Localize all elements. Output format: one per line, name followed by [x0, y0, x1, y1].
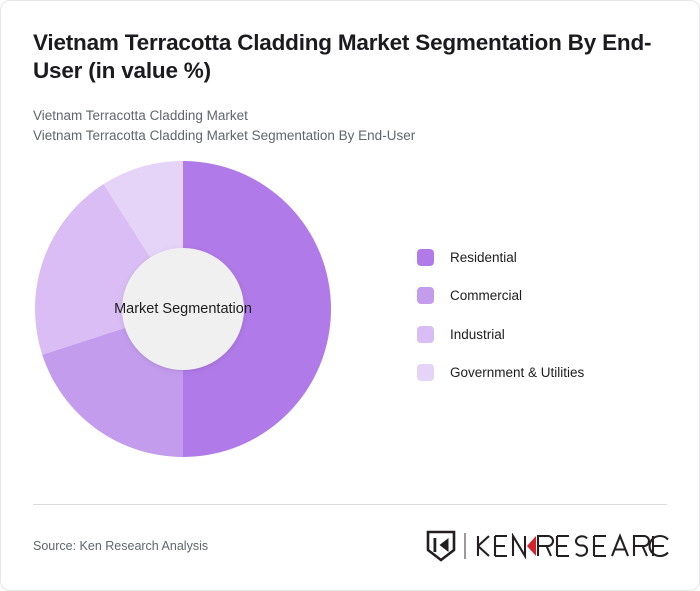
chart-footer: Source: Ken Research Analysis [33, 523, 671, 569]
subtitle-segmentation: Vietnam Terracotta Cladding Market Segme… [33, 126, 667, 146]
legend-swatch [417, 287, 434, 304]
legend-swatch [417, 326, 434, 343]
legend-item[interactable]: Government & Utilities [417, 354, 677, 393]
page-title: Vietnam Terracotta Cladding Market Segme… [33, 29, 667, 86]
donut-svg [33, 159, 333, 459]
legend-label: Residential [450, 250, 517, 265]
chart-body: Market Segmentation ResidentialCommercia… [1, 146, 699, 482]
legend-item[interactable]: Residential [417, 238, 677, 277]
footer-divider [33, 504, 667, 505]
donut-chart: Market Segmentation [33, 159, 333, 459]
legend-swatch [417, 364, 434, 381]
ken-research-wordmark [475, 533, 671, 559]
subtitle-group: Vietnam Terracotta Cladding Market Vietn… [33, 106, 667, 147]
legend-item[interactable]: Industrial [417, 315, 677, 354]
chart-legend: ResidentialCommercialIndustrialGovernmen… [417, 238, 677, 392]
chart-card: Vietnam Terracotta Cladding Market Segme… [0, 0, 700, 591]
chart-header: Vietnam Terracotta Cladding Market Segme… [1, 1, 699, 146]
donut-hole [122, 248, 244, 370]
legend-label: Commercial [450, 288, 522, 303]
legend-item[interactable]: Commercial [417, 277, 677, 316]
legend-swatch [417, 249, 434, 266]
legend-label: Government & Utilities [450, 365, 584, 380]
subtitle-market: Vietnam Terracotta Cladding Market [33, 106, 667, 126]
ken-research-shield-icon [426, 530, 456, 562]
ken-research-logo [426, 530, 671, 562]
legend-label: Industrial [450, 327, 505, 342]
source-text: Source: Ken Research Analysis [33, 539, 208, 553]
logo-separator [464, 533, 466, 559]
